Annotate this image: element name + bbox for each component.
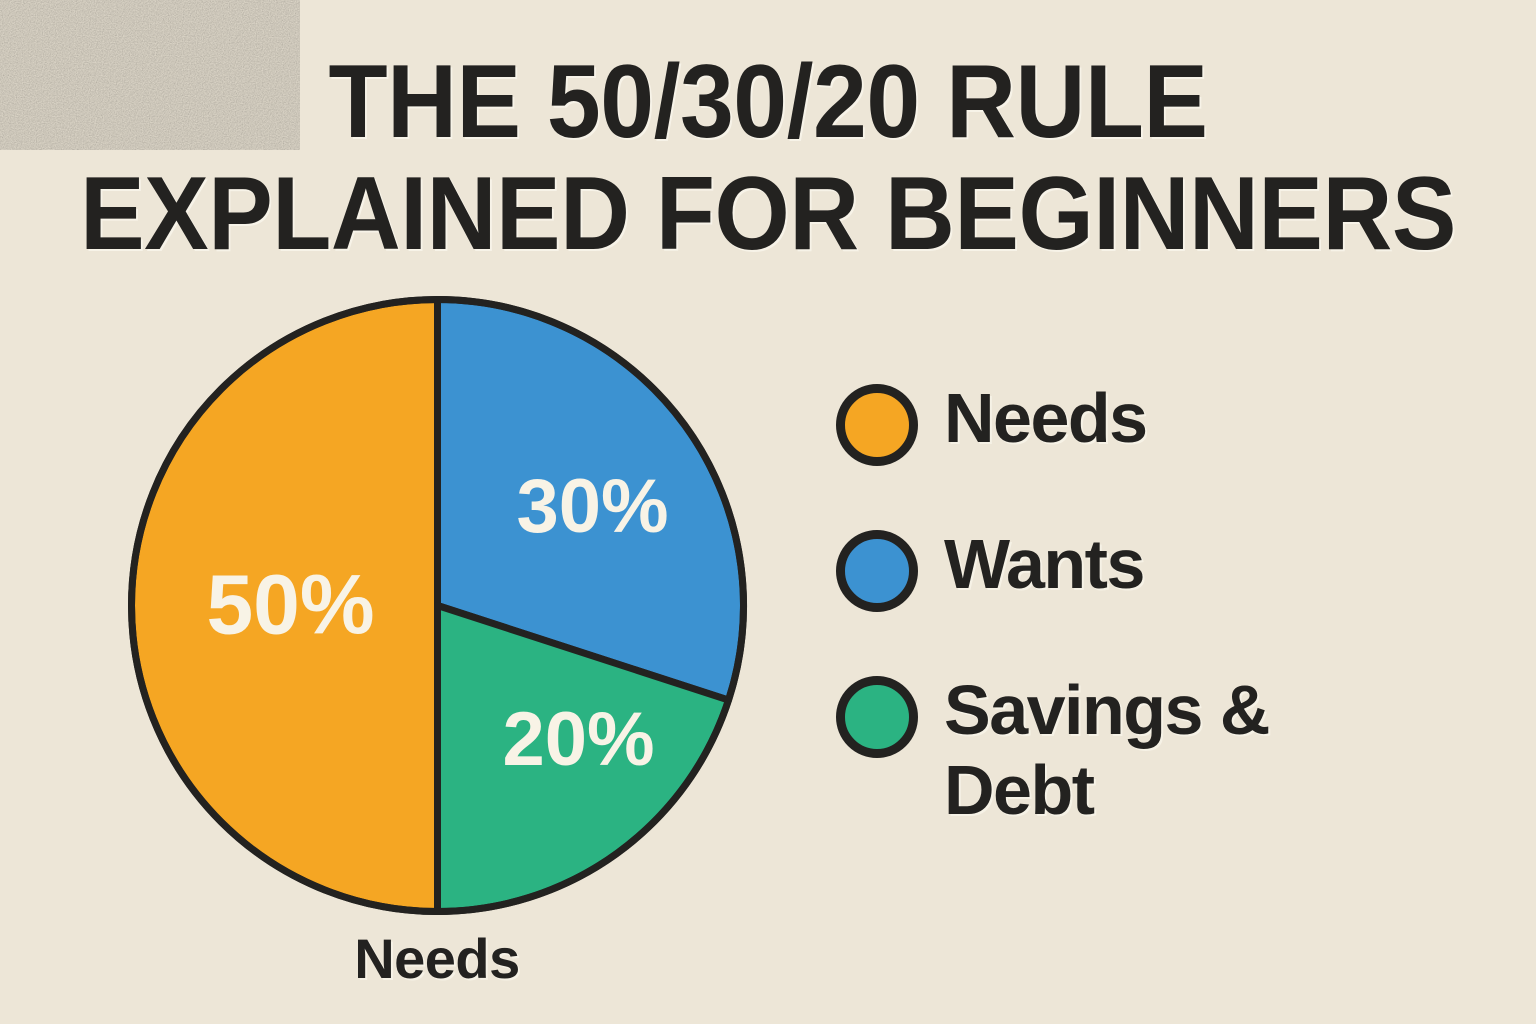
chart-legend: Needs Wants Savings & Debt [836,378,1456,830]
pie-chart-svg: 50% 30% 20% [128,296,747,915]
legend-item-label: Needs [944,378,1147,458]
circle-swatch-icon [836,676,918,758]
infographic-canvas: THE 50/30/20 RULE EXPLAINED FOR BEGINNER… [0,0,1536,1024]
legend-item-needs[interactable]: Needs [836,378,1456,466]
pie-label-wants: 30% [516,464,668,549]
circle-swatch-icon [836,384,918,466]
page-title-line-2: EXPLAINED FOR BEGINNERS [54,158,1482,270]
pie-label-needs: 50% [206,557,374,651]
pie-label-savings-debt: 20% [502,697,654,782]
legend-item-wants[interactable]: Wants [836,524,1456,612]
legend-item-savings-debt[interactable]: Savings & Debt [836,670,1456,830]
legend-item-label: Savings & Debt [944,670,1384,830]
legend-item-label: Wants [944,524,1144,604]
circle-swatch-icon [836,530,918,612]
page-title-line-1: THE 50/30/20 RULE [54,46,1482,158]
pie-chart: 50% 30% 20% [128,296,747,915]
pie-bottom-caption: Needs [137,928,737,990]
page-title: THE 50/30/20 RULE EXPLAINED FOR BEGINNER… [0,46,1536,270]
